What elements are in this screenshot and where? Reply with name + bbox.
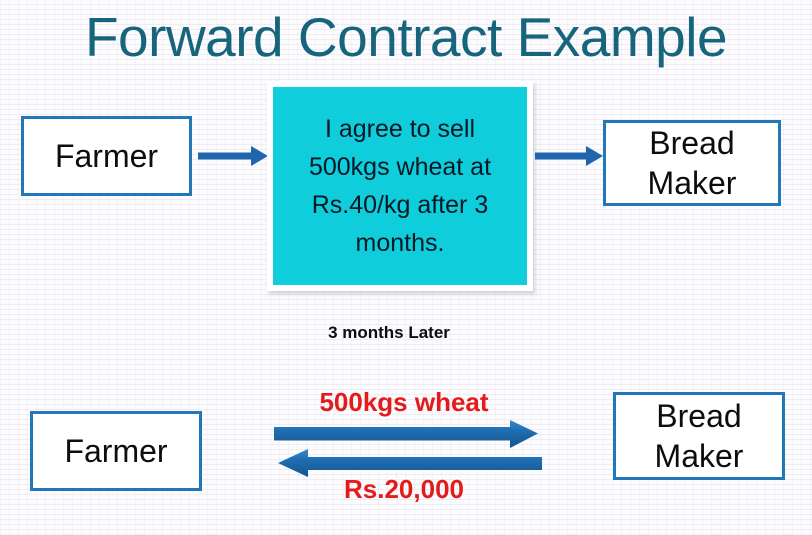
bread-maker-box-top: Bread Maker [603, 120, 781, 206]
farmer-label-top: Farmer [49, 136, 164, 176]
three-months-later-label: 3 months Later [0, 321, 795, 345]
bread-maker-label-top: Bread Maker [606, 123, 778, 203]
contract-to-bread-maker-arrow [533, 143, 605, 169]
goods-exchange-label: 500kgs wheat [254, 386, 554, 418]
slide-canvas: Forward Contract Example Farmer I agree … [0, 0, 812, 535]
arrow-right-icon [533, 143, 605, 169]
bread-maker-label-bottom: Bread Maker [616, 396, 782, 476]
money-exchange-label: Rs.20,000 [254, 473, 554, 505]
contract-box: I agree to sell 500kgs wheat at Rs.40/kg… [273, 87, 527, 285]
page-title: Forward Contract Example [0, 4, 812, 70]
farmer-to-contract-arrow [196, 143, 270, 169]
farmer-label-bottom: Farmer [58, 431, 173, 471]
farmer-box-bottom: Farmer [30, 411, 202, 491]
farmer-box-top: Farmer [21, 116, 192, 196]
contract-text: I agree to sell 500kgs wheat at Rs.40/kg… [286, 110, 514, 262]
arrow-right-icon [196, 143, 270, 169]
bread-maker-box-bottom: Bread Maker [613, 392, 785, 480]
